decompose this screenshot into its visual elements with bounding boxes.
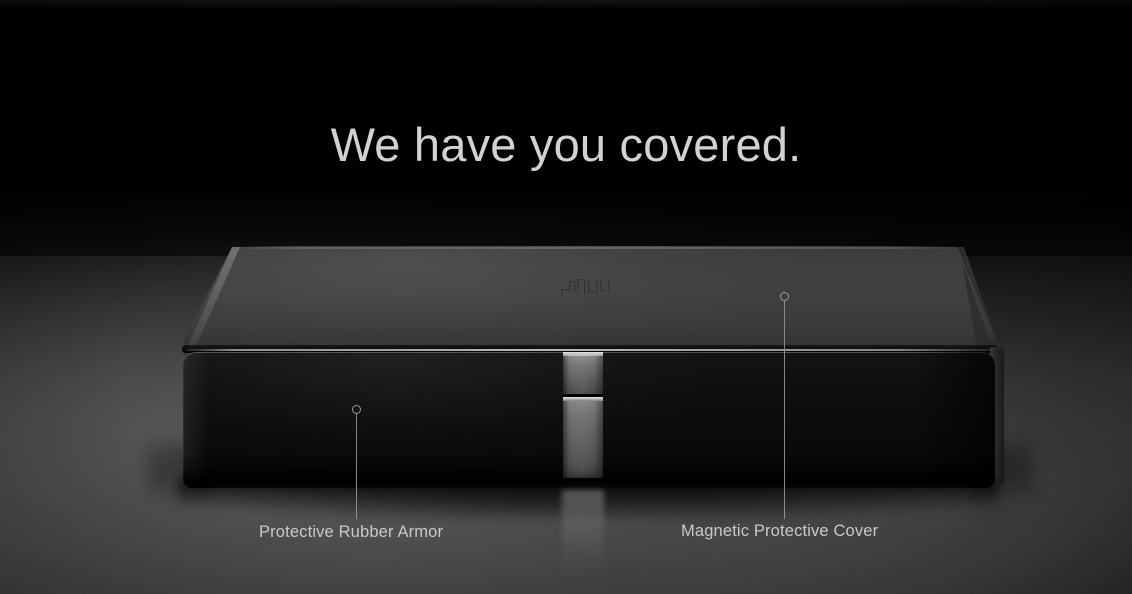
callout-leader-line	[784, 301, 785, 519]
hero-stage: We have you covered.	[0, 0, 1132, 594]
latch-segment-upper	[563, 354, 603, 394]
callout-circle-icon	[352, 405, 361, 414]
callout-label: Protective Rubber Armor	[259, 523, 443, 542]
callout-label: Magnetic Protective Cover	[681, 522, 878, 541]
latch-highlight-lower	[563, 397, 603, 401]
magnetic-latch-strip	[563, 352, 603, 478]
callout-leader-line	[356, 414, 357, 519]
product-image	[170, 243, 1010, 495]
product-seam-highlight	[186, 349, 994, 351]
latch-strip-reflection	[562, 490, 604, 582]
latch-segment-lower	[563, 401, 603, 478]
jawbone-jambox-logo-icon	[559, 275, 617, 301]
hero-headline: We have you covered.	[0, 113, 1132, 177]
product-lid-top-edge	[232, 246, 958, 249]
callout-circle-icon	[780, 292, 789, 301]
latch-highlight-upper	[563, 352, 603, 356]
